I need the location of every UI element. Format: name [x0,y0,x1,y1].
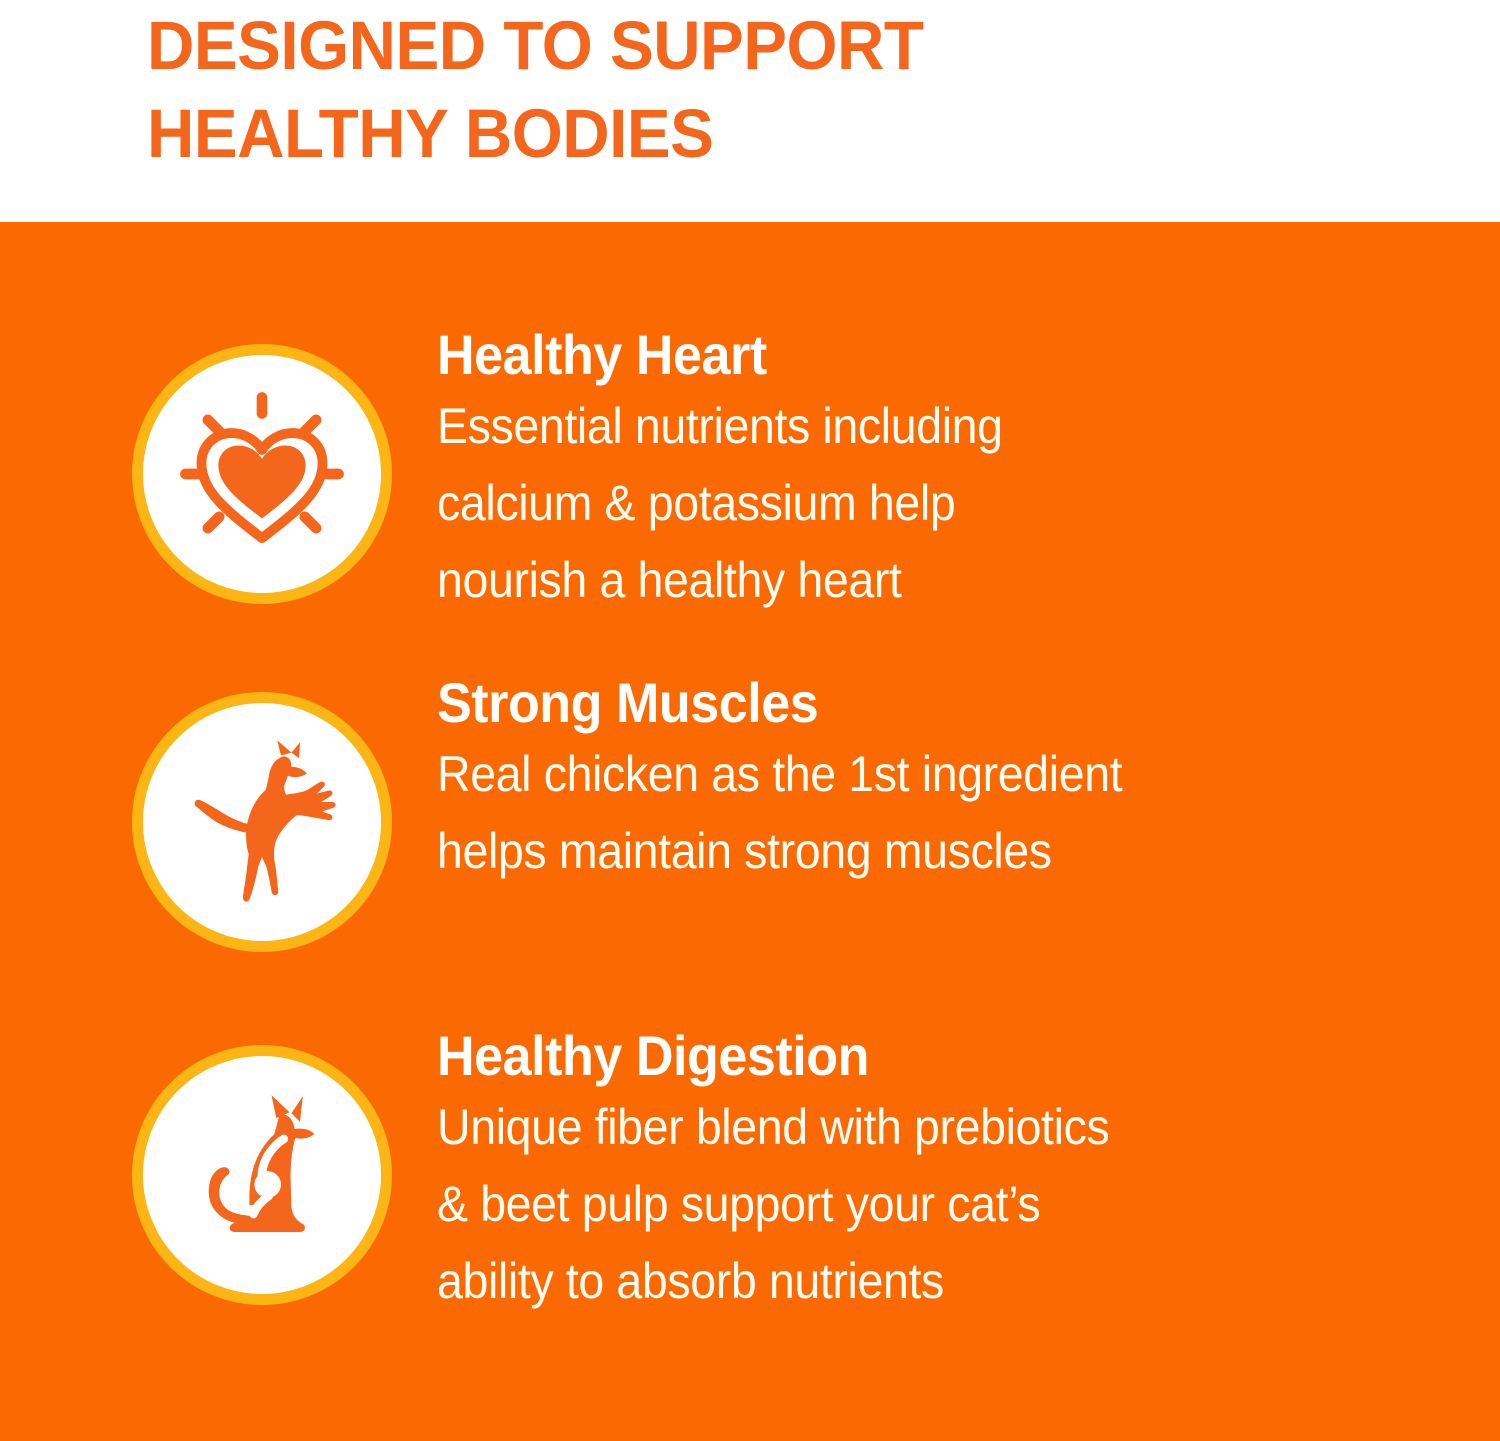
infographic-page: DESIGNED TO SUPPORT HEALTHY BODIES [0,0,1500,1441]
benefit-title: Healthy Heart [437,322,1386,388]
benefit-description: Essential nutrients including calcium & … [437,388,1386,619]
header-band: DESIGNED TO SUPPORT HEALTHY BODIES [0,0,1500,222]
sitting-cat-digestion-icon [132,1045,392,1305]
benefits-panel: Healthy Heart Essential nutrients includ… [0,222,1500,1441]
benefit-text-block: Healthy Digestion Unique fiber blend wit… [437,1023,1457,1320]
benefit-title: Healthy Digestion [437,1023,1386,1089]
jumping-cat-icon [132,692,392,952]
benefit-text-block: Strong Muscles Real chicken as the 1st i… [437,670,1457,890]
radiant-heart-icon [132,344,392,604]
benefit-title: Strong Muscles [437,670,1386,736]
benefit-description: Real chicken as the 1st ingredient helps… [437,736,1386,890]
page-title: DESIGNED TO SUPPORT HEALTHY BODIES [147,2,1268,178]
benefit-description: Unique fiber blend with prebiotics & bee… [437,1089,1386,1320]
benefit-text-block: Healthy Heart Essential nutrients includ… [437,322,1457,619]
